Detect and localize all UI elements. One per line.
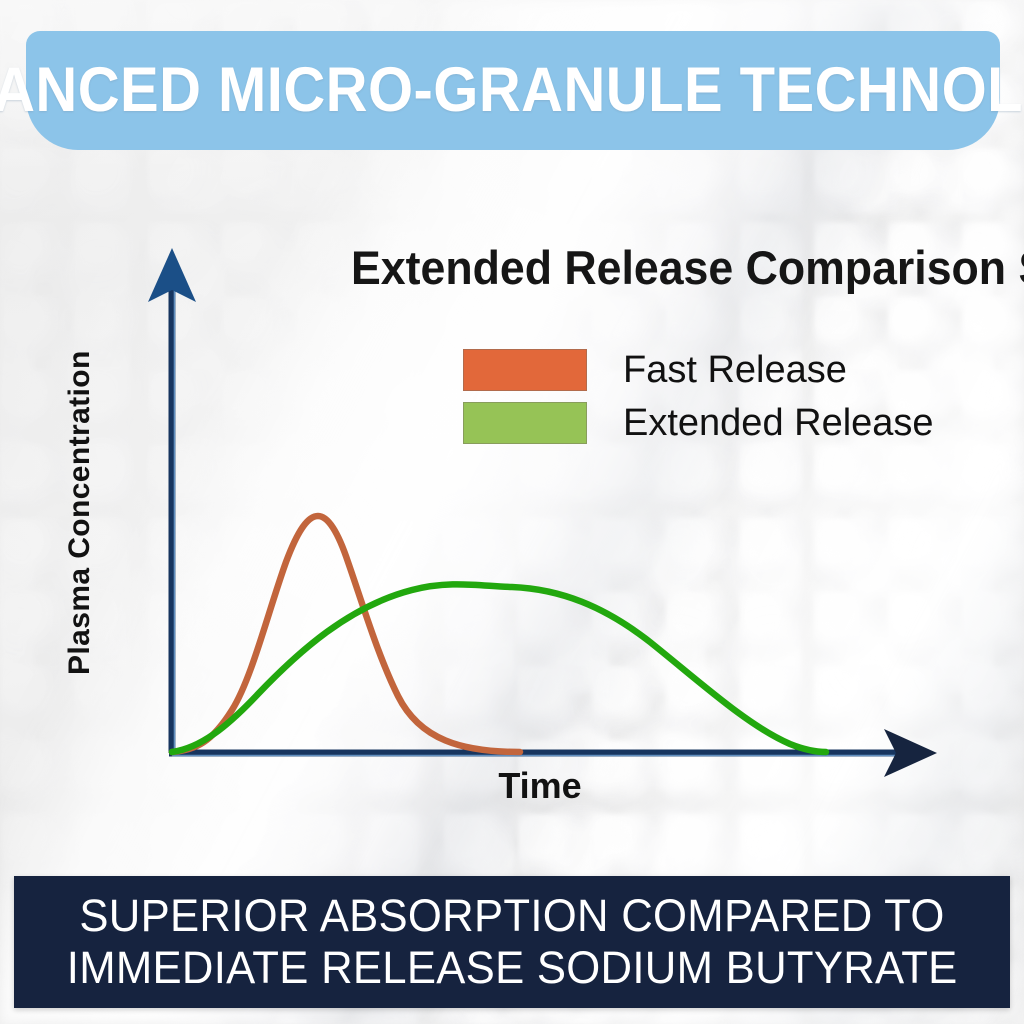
chart-container: Extended Release Comparison Study Fast R… (0, 150, 1024, 876)
curve-fast-release (172, 516, 520, 752)
footer-line-1: SUPERIOR ABSORPTION COMPARED TO (79, 890, 944, 942)
infographic-poster: ADVANCED MICRO-GRANULE TECHNOLOGY Extend… (0, 0, 1024, 1024)
header-banner: ADVANCED MICRO-GRANULE TECHNOLOGY (26, 31, 1000, 150)
plot-svg (0, 150, 1024, 876)
footer-line-2: IMMEDIATE RELEASE SODIUM BUTYRATE (67, 942, 958, 994)
header-banner-title: ADVANCED MICRO-GRANULE TECHNOLOGY (0, 59, 1024, 122)
footer-banner: SUPERIOR ABSORPTION COMPARED TO IMMEDIAT… (14, 876, 1010, 1008)
